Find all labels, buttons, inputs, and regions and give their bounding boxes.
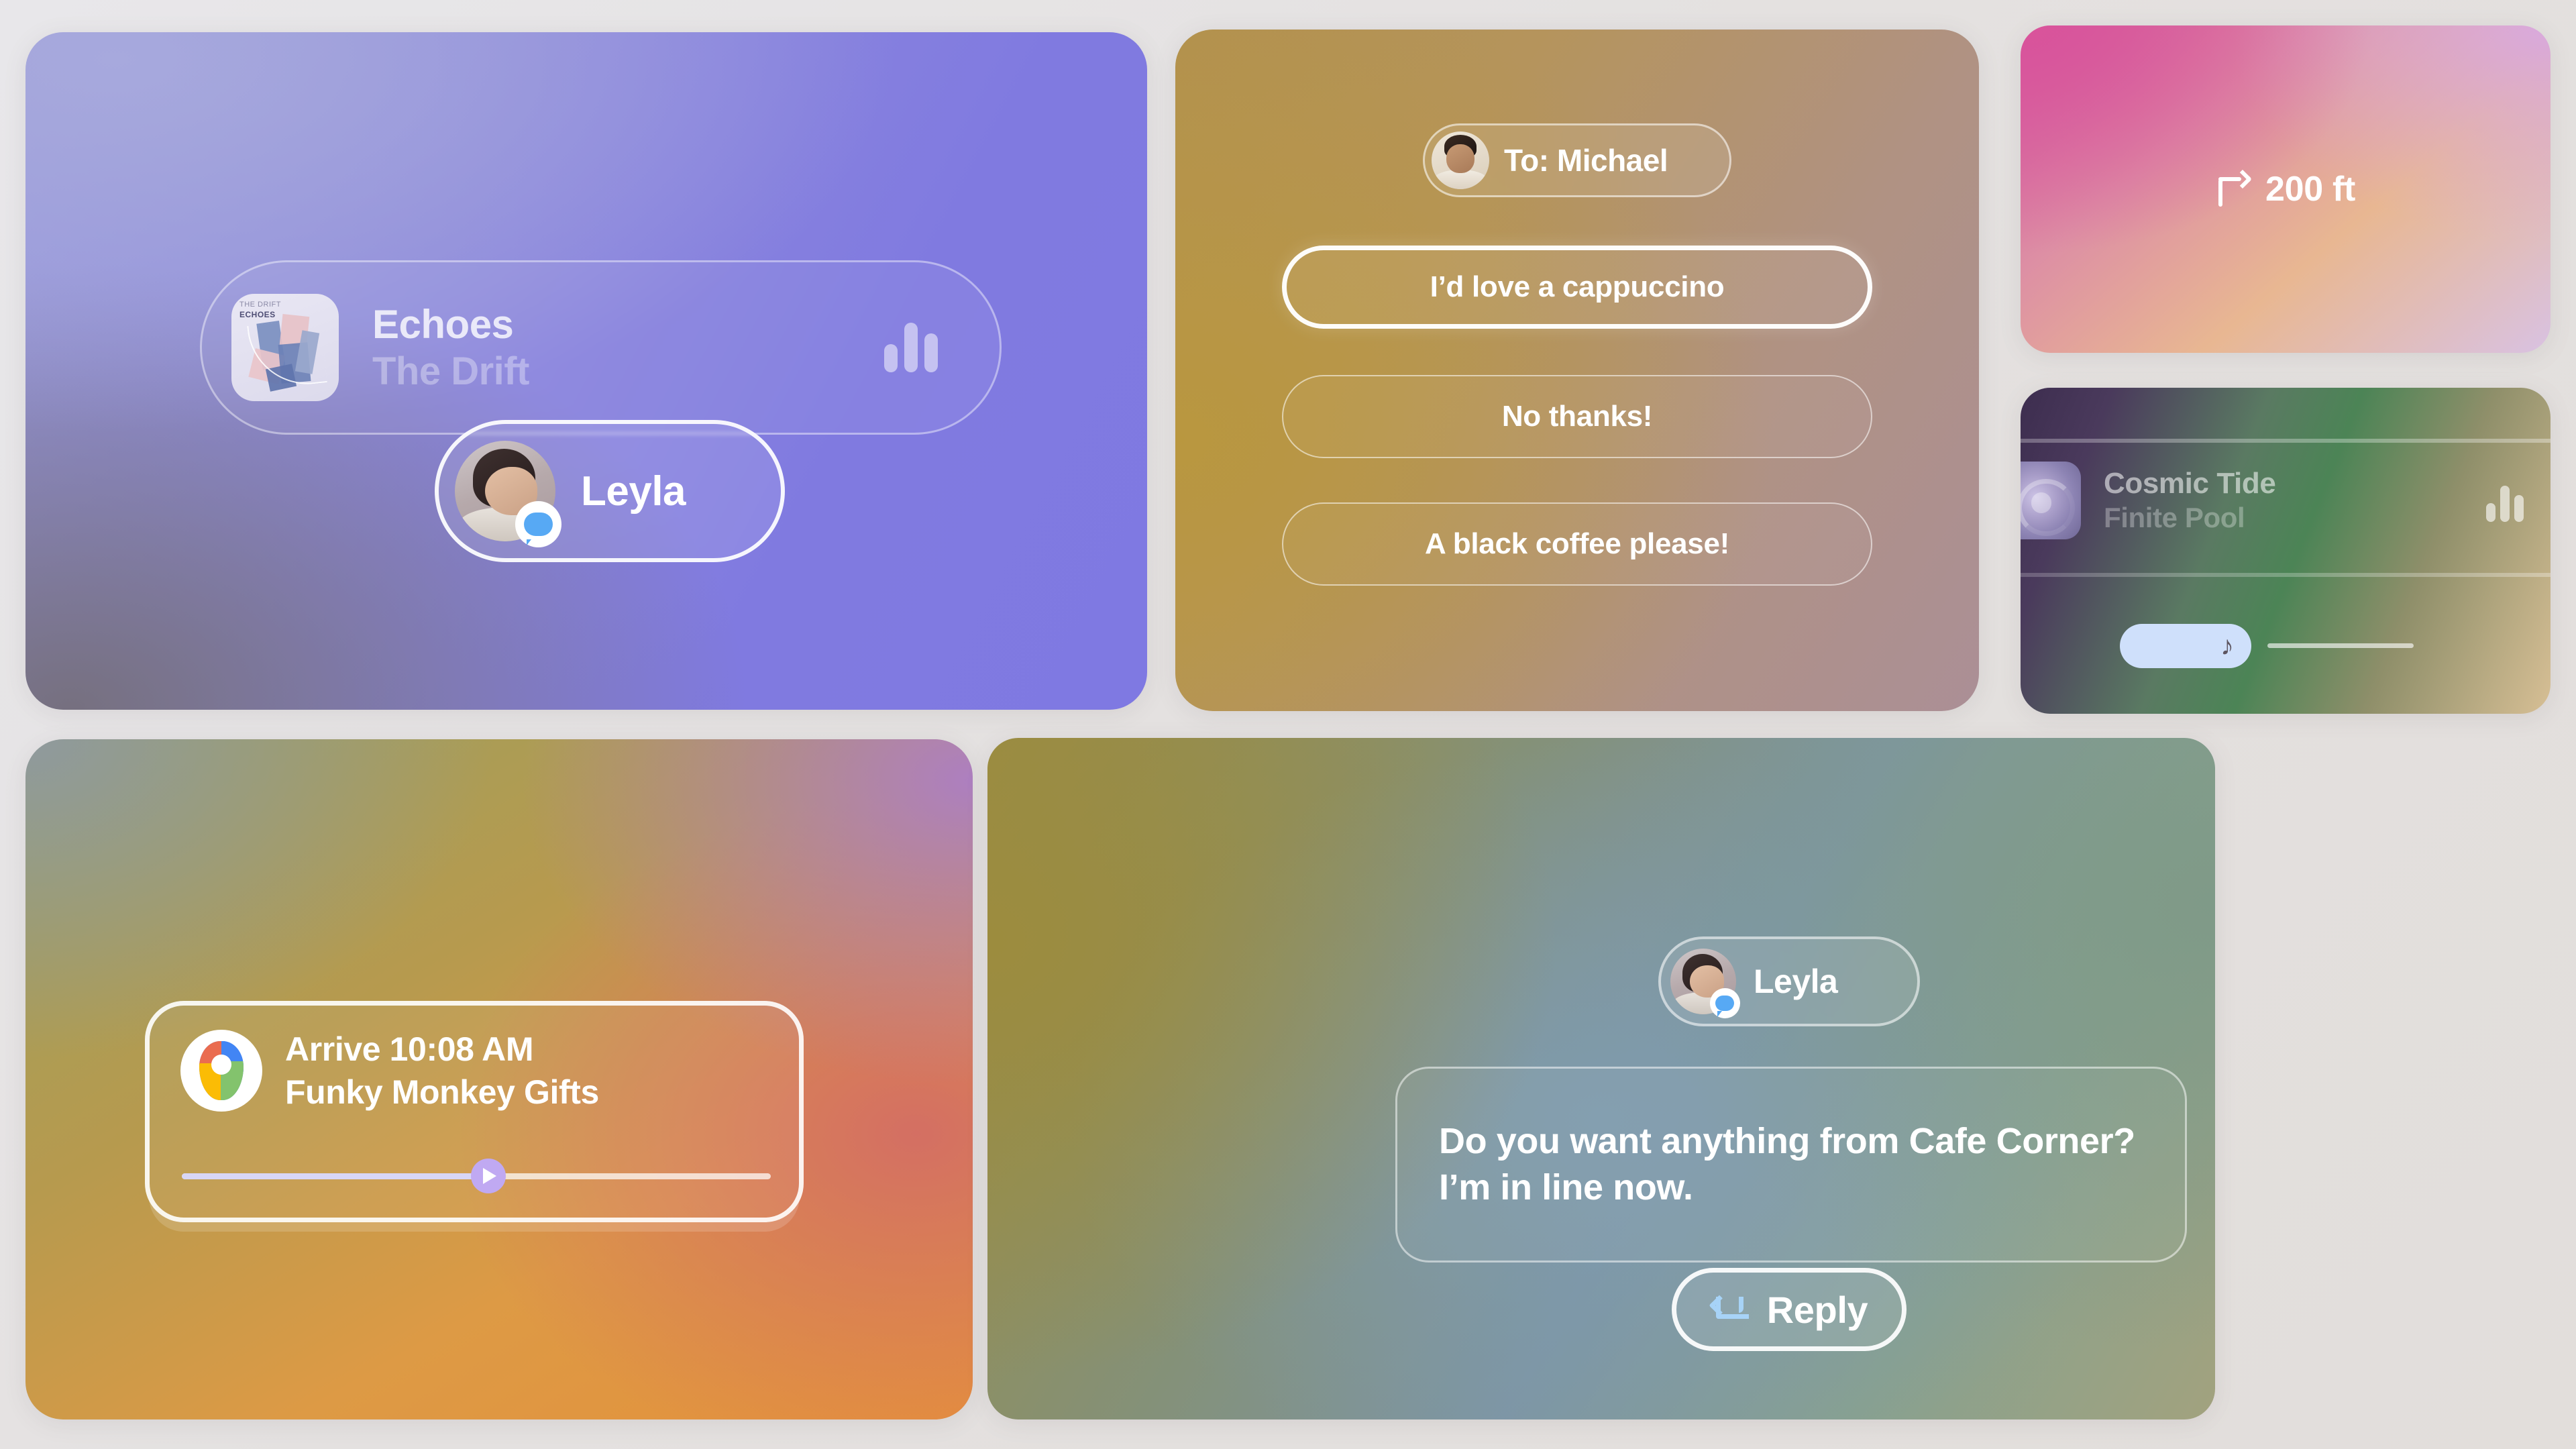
divider xyxy=(2021,573,2551,577)
arrival-panel[interactable]: Arrive 10:08 AM Funky Monkey Gifts xyxy=(145,1001,804,1222)
divider xyxy=(2021,439,2551,443)
navigation-distance-card[interactable]: 200 ft xyxy=(2021,25,2551,353)
album-art-icon xyxy=(2021,462,2081,539)
recipient-label: To: Michael xyxy=(1504,142,1668,178)
track-title: Cosmic Tide xyxy=(2104,467,2275,500)
track-artist: Finite Pool xyxy=(2104,502,2275,534)
turn-right-icon xyxy=(2216,172,2251,207)
messages-bubble-icon xyxy=(1710,988,1740,1018)
equalizer-icon xyxy=(884,323,938,372)
contact-name: Leyla xyxy=(581,468,686,515)
reply-option-1[interactable]: No thanks! xyxy=(1282,375,1872,458)
avatar xyxy=(1432,131,1489,189)
message-text: Do you want anything from Cafe Corner? I… xyxy=(1439,1118,2143,1211)
arrival-header: Arrive 10:08 AM Funky Monkey Gifts xyxy=(150,1006,799,1112)
track-title: Echoes xyxy=(372,301,529,347)
album-art-icon: THE DRIFT ECHOES xyxy=(231,294,339,401)
sender-pill-leyla[interactable]: Leyla xyxy=(1658,936,1920,1026)
distance-label: 200 ft xyxy=(2265,169,2355,209)
widget-board: THE DRIFT ECHOES Echoes The Drift xyxy=(0,0,2576,1449)
messages-bubble-icon xyxy=(515,501,561,547)
album-art-title: ECHOES xyxy=(239,310,281,320)
contact-pill-leyla[interactable]: Leyla xyxy=(435,420,785,562)
avatar xyxy=(455,441,555,541)
recipient-pill-michael[interactable]: To: Michael xyxy=(1423,123,1731,197)
suggested-replies-card[interactable]: To: Michael I’d love a cappuccino No tha… xyxy=(1175,30,1979,711)
reply-button[interactable]: Reply xyxy=(1672,1268,1907,1351)
player-progress-track[interactable] xyxy=(2267,643,2414,648)
cosmic-tide-player-card[interactable]: Cosmic Tide Finite Pool ♪ xyxy=(2021,388,2551,714)
album-art-band: THE DRIFT xyxy=(239,301,281,309)
track-metadata: Cosmic Tide Finite Pool xyxy=(2104,467,2275,534)
message-bubble: Do you want anything from Cafe Corner? I… xyxy=(1395,1067,2187,1263)
track-metadata: Echoes The Drift xyxy=(372,301,529,394)
track-artist: The Drift xyxy=(372,349,529,394)
music-note-pill[interactable]: ♪ xyxy=(2120,624,2251,668)
now-playing-music-card[interactable]: THE DRIFT ECHOES Echoes The Drift xyxy=(25,32,1147,710)
music-note-icon: ♪ xyxy=(2220,633,2234,659)
reply-button-label: Reply xyxy=(1767,1288,1868,1332)
avatar-photo xyxy=(1432,131,1489,189)
reply-arrow-icon xyxy=(1711,1295,1750,1324)
avatar xyxy=(1670,949,1736,1014)
avatar-shoulders xyxy=(1434,170,1487,189)
arrival-time: Arrive 10:08 AM xyxy=(285,1030,599,1069)
chat-bubble-shape xyxy=(1715,996,1734,1011)
reply-option-2[interactable]: A black coffee please! xyxy=(1282,502,1872,586)
reply-option-0[interactable]: I’d love a cappuccino xyxy=(1282,246,1872,329)
destination-name: Funky Monkey Gifts xyxy=(285,1073,599,1112)
equalizer-icon xyxy=(2486,486,2524,522)
maps-arrival-card[interactable]: Arrive 10:08 AM Funky Monkey Gifts 8:32 … xyxy=(25,739,973,1419)
album-art-caption: THE DRIFT ECHOES xyxy=(239,301,281,320)
arrival-text: Arrive 10:08 AM Funky Monkey Gifts xyxy=(285,1030,599,1112)
incoming-message-card[interactable]: Leyla Do you want anything from Cafe Cor… xyxy=(987,738,2215,1419)
maneuver-row: 200 ft xyxy=(2216,169,2355,209)
now-playing-bar[interactable]: THE DRIFT ECHOES Echoes The Drift xyxy=(200,260,1002,435)
route-progress-slider[interactable] xyxy=(182,1171,771,1181)
chat-bubble-shape xyxy=(524,513,553,536)
player-row: Cosmic Tide Finite Pool xyxy=(2021,462,2275,539)
sender-name: Leyla xyxy=(1754,962,1837,1001)
navigation-arrow-icon[interactable] xyxy=(471,1159,506,1193)
google-maps-pin-icon xyxy=(180,1030,262,1112)
progress-fill xyxy=(182,1173,488,1179)
